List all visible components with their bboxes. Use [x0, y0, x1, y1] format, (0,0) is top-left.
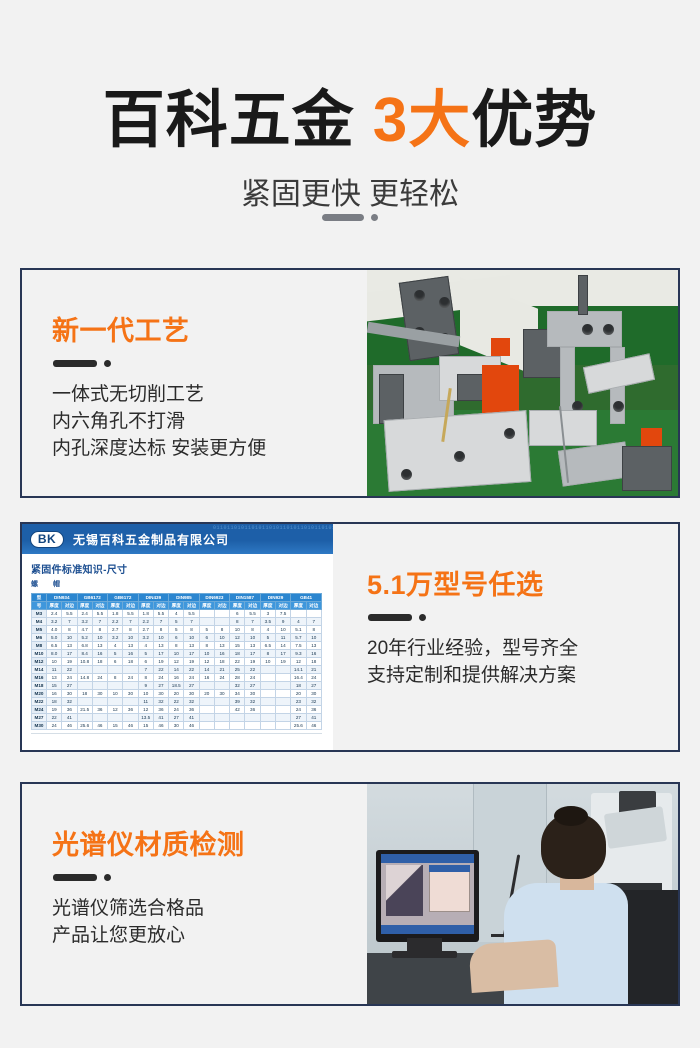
spec-cell: 18 — [230, 650, 245, 658]
spec-cell: 8 — [62, 626, 77, 634]
spec-cell: 8 — [138, 674, 153, 682]
title-part-2: 优势 — [471, 86, 597, 155]
hero-banner: 百科五金3大优势 紧固更快 更轻松 — [0, 0, 700, 250]
spec-cell: 28 — [230, 674, 245, 682]
divider-bar — [368, 614, 412, 621]
spec-cell: 12 — [138, 706, 153, 714]
spec-cell — [108, 666, 123, 674]
spec-row-label: M27 — [32, 714, 47, 722]
feature-card-1-divider — [53, 360, 367, 367]
page-subtitle: 紧固更快 更轻松 — [0, 176, 700, 214]
spec-cell: 24 — [214, 674, 229, 682]
spec-cell — [291, 610, 306, 618]
spec-cell: 13 — [153, 642, 168, 650]
spec-cell: 10 — [199, 650, 214, 658]
spec-cell: 8.0 — [47, 650, 62, 658]
spec-cell — [214, 682, 229, 690]
spec-cell: 13 — [245, 642, 260, 650]
spec-cell: 14 — [169, 666, 184, 674]
spec-cell: 32 — [306, 698, 321, 706]
spec-cell: 18 — [306, 658, 321, 666]
spec-row-label: M20 — [32, 690, 47, 698]
spec-col-group-din6923: DIN6923 — [199, 594, 230, 602]
spec-sub-header: 对边 — [92, 602, 107, 610]
feature-card-3-text: 光谱仪材质检测 光谱仪筛选合格品 产品让您更放心 — [22, 784, 367, 1004]
spec-col-group-gb6172: GB6172 — [108, 594, 139, 602]
spec-cell: 25 — [230, 666, 245, 674]
spec-cell: 7 — [306, 618, 321, 626]
spec-cell: 41 — [306, 714, 321, 722]
spec-cell: 27 — [62, 682, 77, 690]
spec-table: 型DIN934GB6172GB6172DIN439DIN985DIN6923DI… — [31, 593, 322, 730]
spec-cell: 9 — [138, 682, 153, 690]
spec-cell: 14.8 — [77, 674, 92, 682]
spec-cell: 13 — [184, 642, 199, 650]
spec-cell: 8 — [260, 650, 275, 658]
divider-dot — [104, 360, 111, 367]
spec-cell: 24 — [123, 674, 138, 682]
spec-cell: 8 — [153, 626, 168, 634]
spec-col-group-din985: DIN985 — [169, 594, 200, 602]
spec-cell: 10 — [306, 634, 321, 642]
spec-row-label: M24 — [32, 706, 47, 714]
spec-cell: 17 — [275, 650, 290, 658]
spec-cell: 17 — [245, 650, 260, 658]
spec-cell: 18 — [77, 690, 92, 698]
lab-photo — [367, 784, 678, 1004]
spec-cell: 24 — [306, 674, 321, 682]
spec-row-label: M16 — [32, 674, 47, 682]
spec-sub-header: 对边 — [62, 602, 77, 610]
spec-sub-header: 厚度 — [291, 602, 306, 610]
spec-cell: 18 — [214, 658, 229, 666]
spec-cell: 7 — [138, 666, 153, 674]
spec-cell: 36 — [123, 706, 138, 714]
spec-cell: 4 — [291, 618, 306, 626]
spec-col-group-gb41: GB41 — [291, 594, 322, 602]
photo-vertical-shaft — [578, 275, 587, 316]
spec-cell: 13 — [306, 642, 321, 650]
spec-cell — [108, 714, 123, 722]
spec-cell: 24 — [47, 722, 62, 730]
spec-cell: 21.5 — [77, 706, 92, 714]
spec-cell: 41 — [153, 714, 168, 722]
spec-row-label: M30 — [32, 722, 47, 730]
spec-cell: 24 — [62, 674, 77, 682]
spec-cell — [199, 618, 214, 626]
spec-table-row: M24193621.53612361236243642362436 — [32, 706, 322, 714]
spec-cell: 30 — [245, 690, 260, 698]
catalog-body: 紧固件标准知识-尺寸 螺 帽 型DIN934GB6172GB6172DIN439… — [22, 554, 333, 739]
divider-dot — [371, 214, 378, 221]
photo-screen-dialog — [429, 865, 469, 911]
spec-cell: 2.7 — [138, 626, 153, 634]
spec-cell: 25.6 — [77, 722, 92, 730]
spec-table-row: M54.084.782.782.7858581084105.18 — [32, 626, 322, 634]
spec-cell — [199, 682, 214, 690]
spec-cell: 17 — [184, 650, 199, 658]
spec-cell: 32 — [230, 682, 245, 690]
spec-cell: 34 — [230, 690, 245, 698]
spec-cell: 10 — [62, 634, 77, 642]
spec-sub-header: 对边 — [184, 602, 199, 610]
spec-cell: 7 — [153, 618, 168, 626]
feature-card-2-title: 5.1万型号任选 — [367, 568, 678, 602]
spec-cell: 5 — [199, 626, 214, 634]
spec-cell: 10 — [153, 634, 168, 642]
spec-cell: 36 — [153, 706, 168, 714]
feature-card-1: 新一代工艺 一体式无切削工艺 内六角孔不打滑 内孔深度达标 安装更方便 — [20, 268, 680, 498]
spec-cell: 24 — [92, 674, 107, 682]
spec-sub-header: 对边 — [275, 602, 290, 610]
spec-table-row: M2016301830103010302030203034302030 — [32, 690, 322, 698]
spec-cell: 2.4 — [47, 610, 62, 618]
spec-cell — [245, 714, 260, 722]
spec-cell: 18 — [123, 658, 138, 666]
spec-cell: 7 — [123, 618, 138, 626]
spec-cell: 6 — [169, 634, 184, 642]
spec-cell — [77, 666, 92, 674]
page-title: 百科五金3大优势 — [0, 84, 700, 158]
spec-cell: 16 — [306, 650, 321, 658]
spec-table-row: M14112272214221421252214.121 — [32, 666, 322, 674]
spec-cell: 10 — [138, 690, 153, 698]
photo-monitor-base — [392, 951, 457, 958]
spec-cell: 10 — [230, 626, 245, 634]
spec-cell: 27 — [306, 682, 321, 690]
spec-cell — [214, 618, 229, 626]
spec-cell: 10 — [92, 634, 107, 642]
spec-cell — [123, 682, 138, 690]
spec-cell: 27 — [169, 714, 184, 722]
spec-cell: 4 — [108, 642, 123, 650]
feature-card-2-media: BK 无锡百科五金制品有限公司 011011010110101101011010… — [22, 524, 333, 750]
spec-cell: 8 — [123, 626, 138, 634]
spec-sub-header: 对边 — [153, 602, 168, 610]
spec-cell: 5.0 — [47, 634, 62, 642]
spec-sub-header: 厚度 — [199, 602, 214, 610]
spec-cell: 2.2 — [138, 618, 153, 626]
spec-cell: 36 — [245, 706, 260, 714]
spec-sub-header: 厚度 — [138, 602, 153, 610]
spec-cell — [199, 706, 214, 714]
spec-sub-header: 对边 — [214, 602, 229, 610]
spec-cell — [230, 714, 245, 722]
feature-card-1-text: 新一代工艺 一体式无切削工艺 内六角孔不打滑 内孔深度达标 安装更方便 — [22, 270, 367, 496]
spec-cell: 18 — [291, 682, 306, 690]
spec-cell: 13 — [92, 642, 107, 650]
spec-cell: 5 — [138, 650, 153, 658]
spec-sub-header: 厚度 — [260, 602, 275, 610]
spec-sub-header: 对边 — [306, 602, 321, 610]
spec-cell: 3.5 — [260, 618, 275, 626]
spec-cell: 1.8 — [138, 610, 153, 618]
catalog-document: BK 无锡百科五金制品有限公司 011011010110101101011010… — [22, 524, 333, 750]
spec-col-group-gb6172: GB6172 — [77, 594, 108, 602]
machine-photo — [367, 270, 678, 496]
spec-cell: 5.5 — [184, 610, 199, 618]
spec-row-label: M5 — [32, 626, 47, 634]
spec-cell: 3.2 — [77, 618, 92, 626]
spec-cell: 8 — [306, 626, 321, 634]
spec-cell: 10 — [214, 634, 229, 642]
spec-cell: 15 — [230, 642, 245, 650]
spec-cell: 15 — [47, 682, 62, 690]
spec-cell: 36 — [62, 706, 77, 714]
spec-cell: 20 — [291, 690, 306, 698]
spec-table-head: 型DIN934GB6172GB6172DIN439DIN985DIN6923DI… — [32, 594, 322, 610]
spec-cell — [123, 666, 138, 674]
spec-cell: 7 — [245, 618, 260, 626]
spec-cell: 30 — [92, 690, 107, 698]
divider-bar — [53, 874, 97, 881]
spec-cell: 16 — [92, 650, 107, 658]
spec-row-label: M6 — [32, 634, 47, 642]
spec-cell: 12 — [199, 658, 214, 666]
feature-card-3-media — [367, 784, 678, 1004]
spec-cell: 41 — [62, 714, 77, 722]
photo-operator-hair-bun — [554, 806, 588, 826]
spec-cell: 9 — [275, 618, 290, 626]
spec-cell: 10.8 — [77, 658, 92, 666]
spec-table-sub-row: 号厚度对边厚度对边厚度对边厚度对边厚度对边厚度对边厚度对边厚度对边厚度对边 — [32, 602, 322, 610]
spec-cell: 8 — [214, 626, 229, 634]
spec-cell: 24 — [245, 674, 260, 682]
spec-cell: 30 — [214, 690, 229, 698]
spec-cell: 5.5 — [245, 610, 260, 618]
spec-cell: 46 — [153, 722, 168, 730]
spec-cell: 3.2 — [108, 634, 123, 642]
spec-cell — [260, 666, 275, 674]
spec-cell: 6.8 — [77, 642, 92, 650]
divider-bar — [53, 360, 97, 367]
spec-table-row: M65.0105.2103.2103.21061061012105115.710 — [32, 634, 322, 642]
spec-cell: 10 — [108, 690, 123, 698]
spec-cell: 5 — [169, 618, 184, 626]
photo-screen-dialog-titlebar — [429, 865, 469, 872]
spec-col-group-din934: DIN934 — [47, 594, 78, 602]
spec-table-row: M12101910.81861861912191218221910191218 — [32, 658, 322, 666]
spec-cell: 13 — [62, 642, 77, 650]
spec-cell — [108, 698, 123, 706]
spec-cell: 17 — [153, 650, 168, 658]
spec-table-row: M27224113.54127412741 — [32, 714, 322, 722]
photo-screen-taskbar — [381, 925, 474, 934]
spec-cell: 2.7 — [108, 626, 123, 634]
spec-table-row: M108.0178.4165165171017101618178179.316 — [32, 650, 322, 658]
spec-cell — [230, 722, 245, 730]
spec-cell: 21 — [306, 666, 321, 674]
spec-cell — [275, 698, 290, 706]
photo-orange-cap — [641, 428, 663, 446]
spec-cell: 24 — [153, 674, 168, 682]
spec-cell — [214, 610, 229, 618]
spec-col-header-type: 型 — [32, 594, 47, 602]
spec-cell: 10 — [184, 634, 199, 642]
feature-card-2-line-1: 20年行业经验，型号齐全 — [367, 635, 678, 662]
spec-cell: 23 — [291, 698, 306, 706]
spec-cell — [199, 714, 214, 722]
spec-table-row: M16132414.82482482416241624282416.424 — [32, 674, 322, 682]
spec-cell — [199, 610, 214, 618]
spec-cell: 5 — [108, 650, 123, 658]
spec-cell — [275, 722, 290, 730]
spec-cell: 42 — [230, 706, 245, 714]
spec-cell: 17 — [62, 650, 77, 658]
feature-card-2-divider — [368, 614, 678, 621]
spec-cell: 12 — [291, 658, 306, 666]
catalog-heading: 紧固件标准知识-尺寸 — [31, 561, 333, 576]
spec-cell: 5.5 — [123, 610, 138, 618]
spec-cell — [92, 666, 107, 674]
spec-cell: 22 — [169, 698, 184, 706]
feature-card-2-line-2: 支持定制和提供解决方案 — [367, 662, 678, 689]
feature-card-2: BK 无锡百科五金制品有限公司 011011010110101101011010… — [20, 522, 680, 752]
spec-cell — [199, 722, 214, 730]
spec-cell: 6.5 — [260, 642, 275, 650]
spec-cell: 10 — [245, 634, 260, 642]
spec-cell: 10 — [123, 634, 138, 642]
feature-card-1-line-1: 一体式无切削工艺 — [52, 381, 367, 408]
spec-row-label: M4 — [32, 618, 47, 626]
spec-table-row: M18152792718.52732271827 — [32, 682, 322, 690]
catalog-watermark-text: 0110110101101011010110101101011010110101… — [213, 524, 333, 554]
photo-bolt — [439, 297, 450, 308]
spec-cell: 13 — [123, 642, 138, 650]
spec-cell: 19 — [47, 706, 62, 714]
spec-cell: 39 — [230, 698, 245, 706]
spec-cell: 18 — [47, 698, 62, 706]
spec-cell: 2.2 — [108, 618, 123, 626]
spec-cell: 46 — [306, 722, 321, 730]
spec-cell: 7 — [62, 618, 77, 626]
spec-cell: 8 — [230, 618, 245, 626]
spec-cell: 12 — [169, 658, 184, 666]
spec-cell: 5.2 — [77, 634, 92, 642]
spec-cell: 22 — [153, 666, 168, 674]
spec-cell: 22 — [47, 714, 62, 722]
spec-cell: 36 — [92, 706, 107, 714]
spec-cell: 14 — [199, 666, 214, 674]
spec-row-label: M8 — [32, 642, 47, 650]
spec-cell: 7 — [184, 618, 199, 626]
spec-cell: 27 — [291, 714, 306, 722]
catalog-footer-rule — [31, 733, 322, 739]
spec-cell: 5.5 — [153, 610, 168, 618]
spec-cell — [260, 690, 275, 698]
feature-card-3: 光谱仪材质检测 光谱仪筛选合格品 产品让您更放心 — [20, 782, 680, 1006]
spec-table-row: M32.45.52.45.51.85.51.85.545.565.537.5 — [32, 610, 322, 618]
spec-sub-header: 厚度 — [77, 602, 92, 610]
spec-table-row: M2218321132223239322332 — [32, 698, 322, 706]
spec-cell: 5 — [169, 626, 184, 634]
bk-logo: BK — [30, 531, 64, 548]
spec-cell: 8 — [245, 626, 260, 634]
spec-cell — [108, 682, 123, 690]
spec-cell: 30 — [184, 690, 199, 698]
spec-cell — [260, 682, 275, 690]
promo-page: 百科五金3大优势 紧固更快 更轻松 新一代工艺 一体式无切削工艺 内六角孔不打滑… — [0, 0, 700, 1048]
spec-cell: 18.5 — [169, 682, 184, 690]
spec-cell — [306, 610, 321, 618]
spec-cell: 32 — [245, 698, 260, 706]
spec-col-header-model: 号 — [32, 602, 47, 610]
spec-cell: 6 — [199, 634, 214, 642]
spec-cell: 10 — [47, 658, 62, 666]
spec-cell — [199, 698, 214, 706]
spec-cell — [123, 714, 138, 722]
spec-cell — [214, 714, 229, 722]
spec-cell — [214, 698, 229, 706]
spec-cell: 18 — [92, 658, 107, 666]
spec-col-group-din439: DIN439 — [138, 594, 169, 602]
spec-cell: 10 — [260, 658, 275, 666]
spec-cell: 30 — [169, 722, 184, 730]
spec-cell: 30 — [153, 690, 168, 698]
title-part-1: 百科五金 — [103, 86, 355, 155]
spec-cell: 8 — [92, 626, 107, 634]
spec-cell: 11 — [47, 666, 62, 674]
spec-cell: 30 — [306, 690, 321, 698]
spec-cell: 8.4 — [77, 650, 92, 658]
spec-sub-header: 厚度 — [230, 602, 245, 610]
photo-operator-arm — [468, 939, 558, 993]
spec-cell: 3.2 — [47, 618, 62, 626]
spec-cell — [275, 714, 290, 722]
spec-cell: 32 — [184, 698, 199, 706]
spec-cell: 27 — [184, 682, 199, 690]
spec-cell: 16 — [169, 674, 184, 682]
spec-cell: 15 — [138, 722, 153, 730]
photo-bolt — [613, 401, 624, 412]
spec-sub-header: 厚度 — [47, 602, 62, 610]
spec-cell: 27 — [245, 682, 260, 690]
spec-row-label: M18 — [32, 682, 47, 690]
spec-cell: 19 — [184, 658, 199, 666]
spec-sub-header: 厚度 — [108, 602, 123, 610]
spec-cell — [77, 682, 92, 690]
spec-cell: 5 — [260, 634, 275, 642]
spec-cell: 27 — [153, 682, 168, 690]
spec-cell: 5.5 — [92, 610, 107, 618]
spec-cell: 8 — [199, 642, 214, 650]
spec-cell: 30 — [123, 690, 138, 698]
feature-card-1-title: 新一代工艺 — [52, 314, 367, 348]
spec-cell — [123, 698, 138, 706]
feature-card-3-title: 光谱仪材质检测 — [52, 828, 367, 862]
spec-cell: 16 — [199, 674, 214, 682]
spec-cell: 6.5 — [47, 642, 62, 650]
photo-screen-titlebar — [381, 854, 474, 863]
spec-cell: 22 — [184, 666, 199, 674]
divider-dot — [104, 874, 111, 881]
spec-cell — [77, 714, 92, 722]
spec-cell — [260, 706, 275, 714]
spec-cell: 11 — [138, 698, 153, 706]
spec-cell — [214, 722, 229, 730]
spec-cell — [92, 714, 107, 722]
spec-cell — [214, 706, 229, 714]
spec-row-label: M10 — [32, 650, 47, 658]
spec-cell — [77, 698, 92, 706]
spec-sub-header: 厚度 — [169, 602, 184, 610]
spec-cell: 12 — [230, 634, 245, 642]
spec-cell: 24 — [184, 674, 199, 682]
spec-col-group-din1587: DIN1587 — [230, 594, 261, 602]
spec-cell: 22 — [245, 666, 260, 674]
spec-cell: 24 — [169, 706, 184, 714]
spec-cell: 4.7 — [77, 626, 92, 634]
